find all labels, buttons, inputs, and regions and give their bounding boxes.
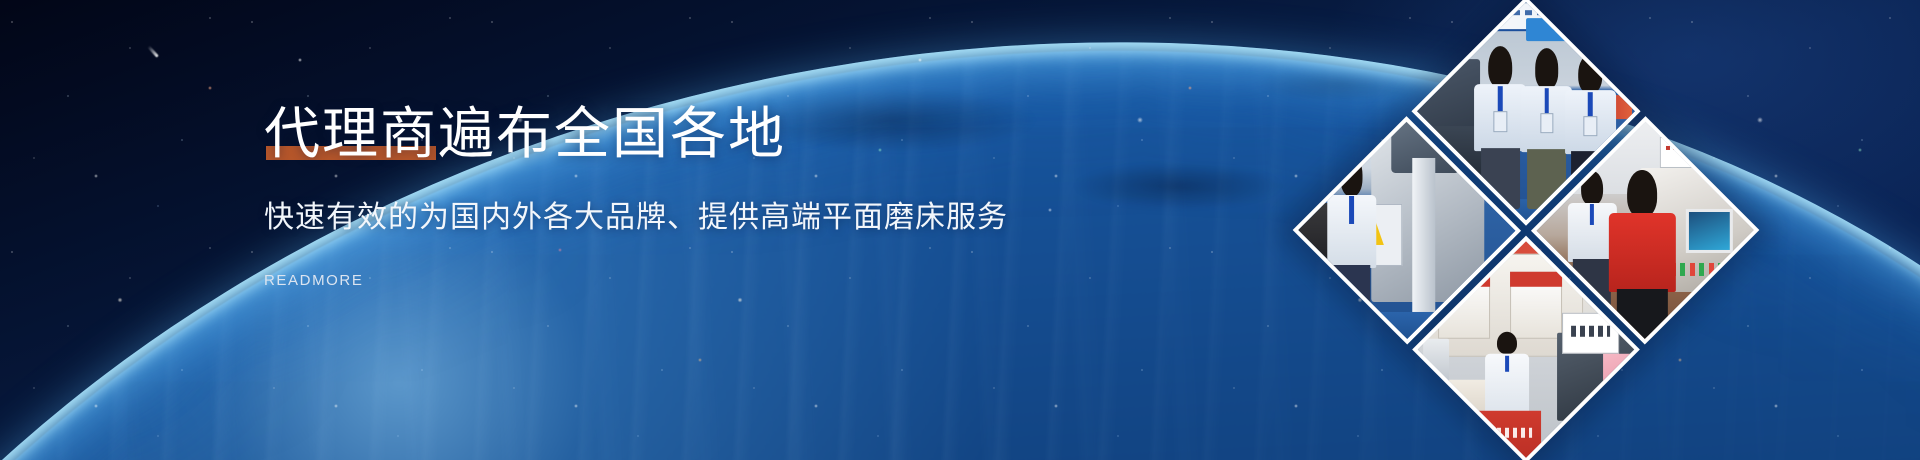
person-hair <box>1581 171 1603 206</box>
person-lanyard <box>1505 356 1509 372</box>
person-seated-staff <box>1485 334 1529 422</box>
person-badge <box>1494 111 1507 132</box>
person-red-shirt <box>1609 173 1676 344</box>
person-trousers <box>1297 269 1334 333</box>
collage-grid <box>1293 0 1760 460</box>
hero-banner: 代理商遍布全国各地 快速有效的为国内外各大品牌、提供高端平面磨床服务 READM… <box>0 0 1920 460</box>
wall-sign <box>1661 137 1702 168</box>
booth-sign-secondary <box>1526 18 1593 41</box>
person-lanyard <box>1588 92 1593 118</box>
cnc-control-buttons <box>1671 264 1733 277</box>
diamond-photo-collage <box>1293 0 1759 460</box>
person-badge <box>1584 116 1597 136</box>
counter-banner-text <box>1457 428 1531 437</box>
booth-banner-text <box>1453 10 1574 15</box>
person-hair <box>1497 332 1517 355</box>
red-counter-banner <box>1418 411 1542 460</box>
person-lanyard <box>1590 204 1594 225</box>
person-head <box>1305 168 1325 188</box>
grinder-column <box>1412 158 1435 318</box>
readmore-link[interactable]: READMORE <box>264 272 363 289</box>
person-trousers <box>1333 265 1370 333</box>
pink-poster <box>1603 354 1639 406</box>
person-left <box>1474 49 1526 209</box>
booth-banner <box>1413 3 1583 31</box>
person-white-shirt <box>1327 158 1376 333</box>
banner-subheadline: 快速有效的为国内外各大品牌、提供高端平面磨床服务 <box>264 200 1044 236</box>
person-shirt <box>1609 213 1676 292</box>
person-lanyard <box>1349 196 1353 224</box>
person-badge <box>1540 113 1553 133</box>
person-hair <box>1535 48 1559 89</box>
person-hair <box>1305 165 1327 205</box>
cnc-display-screen <box>1686 209 1732 253</box>
shelf-red-tag-right <box>1511 272 1563 287</box>
person-hair <box>1341 154 1363 196</box>
person-hair <box>1628 170 1658 217</box>
person-hair <box>1579 54 1603 94</box>
person-lanyard <box>1544 88 1549 115</box>
desk-lamp-arm <box>1423 339 1449 391</box>
banner-headline: 代理商遍布全国各地 <box>264 104 786 164</box>
person-hair <box>1488 46 1512 88</box>
person-lanyard <box>1498 86 1503 113</box>
booth-placard <box>1562 313 1619 354</box>
headline-wrap: 代理商遍布全国各地 <box>264 104 786 164</box>
banner-copy: 代理商遍布全国各地 快速有效的为国内外各大品牌、提供高端平面磨床服务 READM… <box>264 104 1044 290</box>
